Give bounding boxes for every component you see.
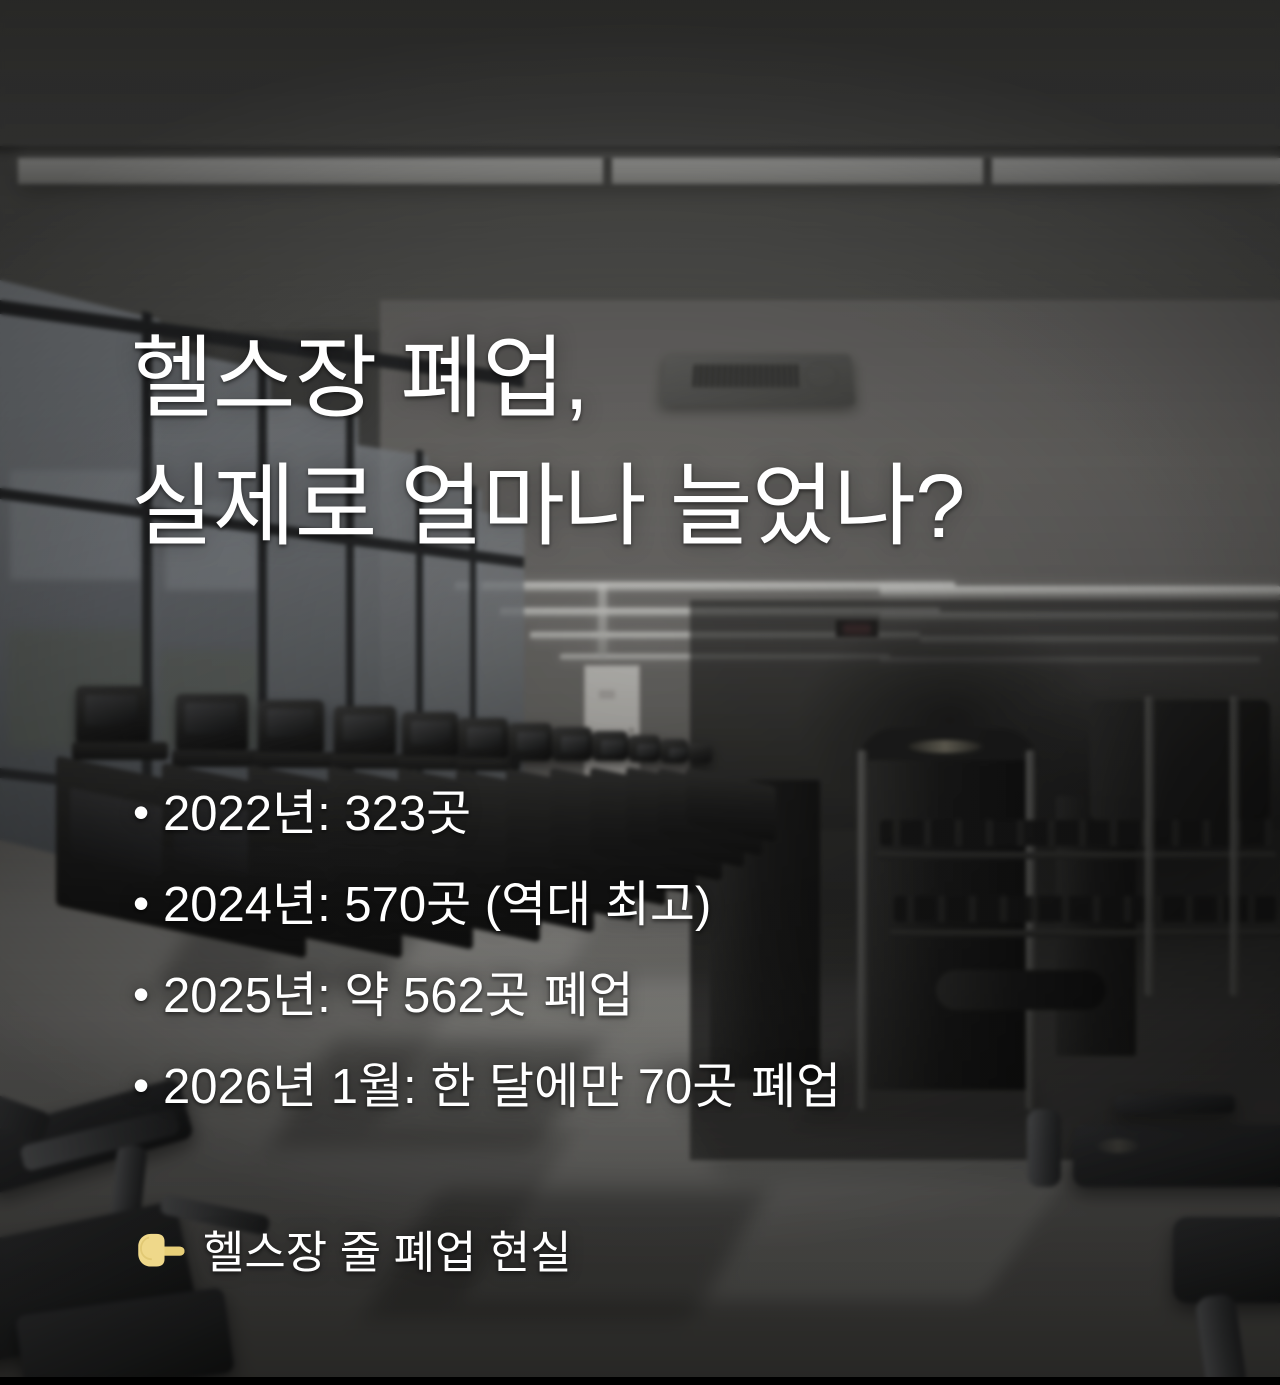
list-item: • 2026년 1월: 한 달에만 70곳 폐업 xyxy=(133,1060,1173,1115)
list-item: • 2022년: 323곳 xyxy=(133,787,1173,842)
list-item: • 2024년: 570곳 (역대 최고) xyxy=(133,878,1173,933)
statistics-list: • 2022년: 323곳 • 2024년: 570곳 (역대 최고) • 20… xyxy=(133,787,1173,1151)
pointing-right-hand-icon xyxy=(131,1226,189,1278)
list-item: • 2025년: 약 562곳 폐업 xyxy=(133,969,1173,1024)
bullet-marker: • xyxy=(133,878,163,930)
bullet-marker: • xyxy=(133,969,163,1021)
infographic-slide: 헬스장 폐업, 실제로 얼마나 늘었나? • 2022년: 323곳 • 202… xyxy=(0,0,1280,1385)
caption: 헬스장 줄 폐업 현실 xyxy=(131,1226,572,1278)
page-title: 헬스장 폐업, 실제로 얼마나 늘었나? xyxy=(131,316,1171,572)
list-item-label: 2026년 1월: 한 달에만 70곳 폐업 xyxy=(163,1060,1173,1115)
bullet-marker: • xyxy=(133,787,163,839)
list-item-label: 2022년: 323곳 xyxy=(163,787,1173,842)
text-overlay: 헬스장 폐업, 실제로 얼마나 늘었나? • 2022년: 323곳 • 202… xyxy=(0,0,1280,1385)
letterbox-bar xyxy=(0,1377,1280,1385)
list-item-label: 2024년: 570곳 (역대 최고) xyxy=(163,878,1173,933)
bullet-marker: • xyxy=(133,1060,163,1112)
caption-label: 헬스장 줄 폐업 현실 xyxy=(203,1230,572,1275)
list-item-label: 2025년: 약 562곳 폐업 xyxy=(163,969,1173,1024)
